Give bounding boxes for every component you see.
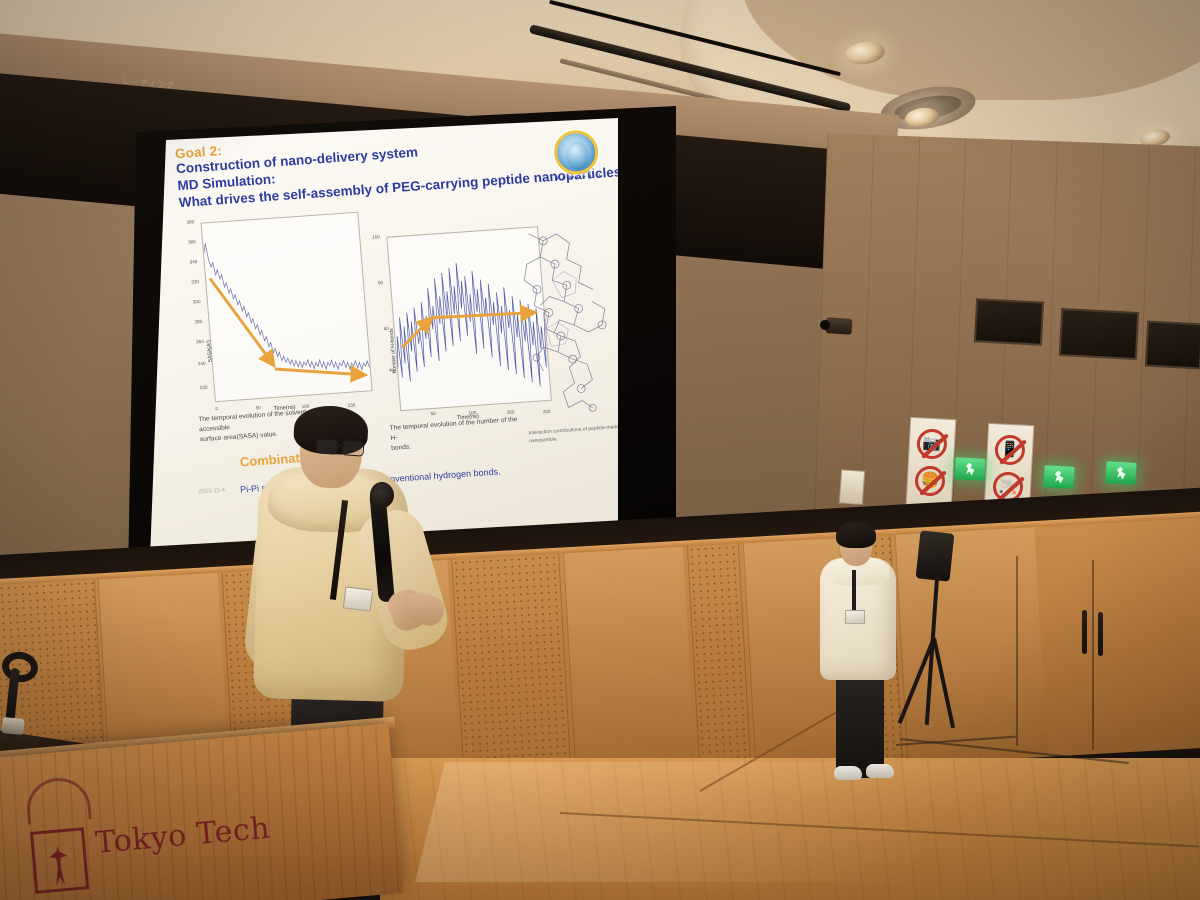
second-presenter-hair — [836, 522, 876, 548]
acoustic-panel — [687, 544, 752, 777]
chart-sasa-ytick: 360 — [188, 239, 196, 245]
chart-sasa-xtick: 150 — [347, 402, 355, 408]
cigarette-glyph: 🚬 — [998, 478, 1017, 494]
chart-sasa-ytick: 240 — [198, 361, 206, 367]
second-presenter-shoe — [834, 766, 862, 780]
chart-hbonds-xtick: 50 — [430, 411, 436, 416]
chart-hbonds-ytick: 40 — [389, 368, 395, 373]
door-handle[interactable] — [1098, 612, 1103, 656]
wood-panel — [563, 547, 696, 783]
chart-sasa-xtick: 0 — [215, 406, 218, 411]
wall-recess-panel — [1145, 321, 1200, 370]
chart-hbonds-ytick: 60 — [383, 326, 389, 331]
food-glyph: 🍔 — [920, 472, 939, 488]
chart-hbonds-xtick: 150 — [507, 409, 515, 415]
door-seam — [1092, 560, 1094, 750]
chart-hbonds-xtick: 100 — [468, 410, 476, 416]
floor-reflection — [415, 762, 1165, 882]
slide-date-stamp: 2023-11-4 — [198, 488, 225, 496]
chart-sasa-ytick: 260 — [196, 339, 204, 345]
wall-recess-panel — [1059, 308, 1139, 360]
emergency-exit-icon — [1105, 461, 1136, 485]
chart-sasa-ytick: 300 — [193, 299, 201, 305]
no-mobile-phone-icon: 📱 — [994, 434, 1026, 466]
no-camera-icon: 📷 — [916, 428, 948, 460]
microphone-base — [1, 717, 25, 735]
second-presenter-legs — [836, 668, 884, 778]
wall-notice-plate — [839, 469, 865, 505]
chart-sasa-ytick: 320 — [191, 279, 199, 285]
door-handle[interactable] — [1082, 610, 1087, 654]
security-camera-icon — [825, 317, 852, 335]
presentation-slide: Goal 2: Construction of nano-delivery sy… — [150, 85, 652, 556]
acoustic-panel — [451, 554, 572, 790]
no-food-drink-icon: 🍔 — [914, 465, 946, 497]
pa-speaker — [916, 530, 955, 581]
second-presenter-shoe — [866, 764, 894, 778]
phone-glyph: 📱 — [1000, 442, 1019, 458]
chart-sasa-ytick: 220 — [200, 385, 208, 391]
chart-sasa-arrows — [202, 213, 372, 401]
lecture-hall-photo: レーディング 📷 🍔 📱 🚬 Goal 2: Construction of n… — [0, 0, 1200, 900]
caption-hbonds: The temporal evolution of the number of … — [389, 415, 521, 454]
emergency-exit-icon — [954, 457, 985, 481]
caption-molecule: Interaction contributions of peptide-mad… — [528, 424, 625, 446]
door-seam — [1016, 556, 1018, 746]
prohibition-sign-left: 📷 🍔 — [906, 417, 957, 507]
presenter-name-badge — [343, 586, 373, 611]
molecular-structure-diagram — [507, 206, 628, 423]
second-presenter-badge — [845, 610, 865, 624]
chart-hbonds-ytick: 80 — [378, 280, 384, 285]
chart-sasa — [201, 212, 373, 402]
chart-hbonds-ytick: 100 — [372, 234, 380, 240]
chart-sasa-ytick: 380 — [186, 219, 194, 225]
camera-glyph: 📷 — [922, 436, 941, 452]
emergency-exit-icon — [1043, 465, 1074, 489]
wall-recess-panel — [974, 298, 1044, 345]
chart-sasa-xtick: 50 — [255, 405, 261, 410]
chart-sasa-ytick: 340 — [189, 259, 197, 265]
chart-sasa-ytick: 280 — [194, 319, 202, 325]
